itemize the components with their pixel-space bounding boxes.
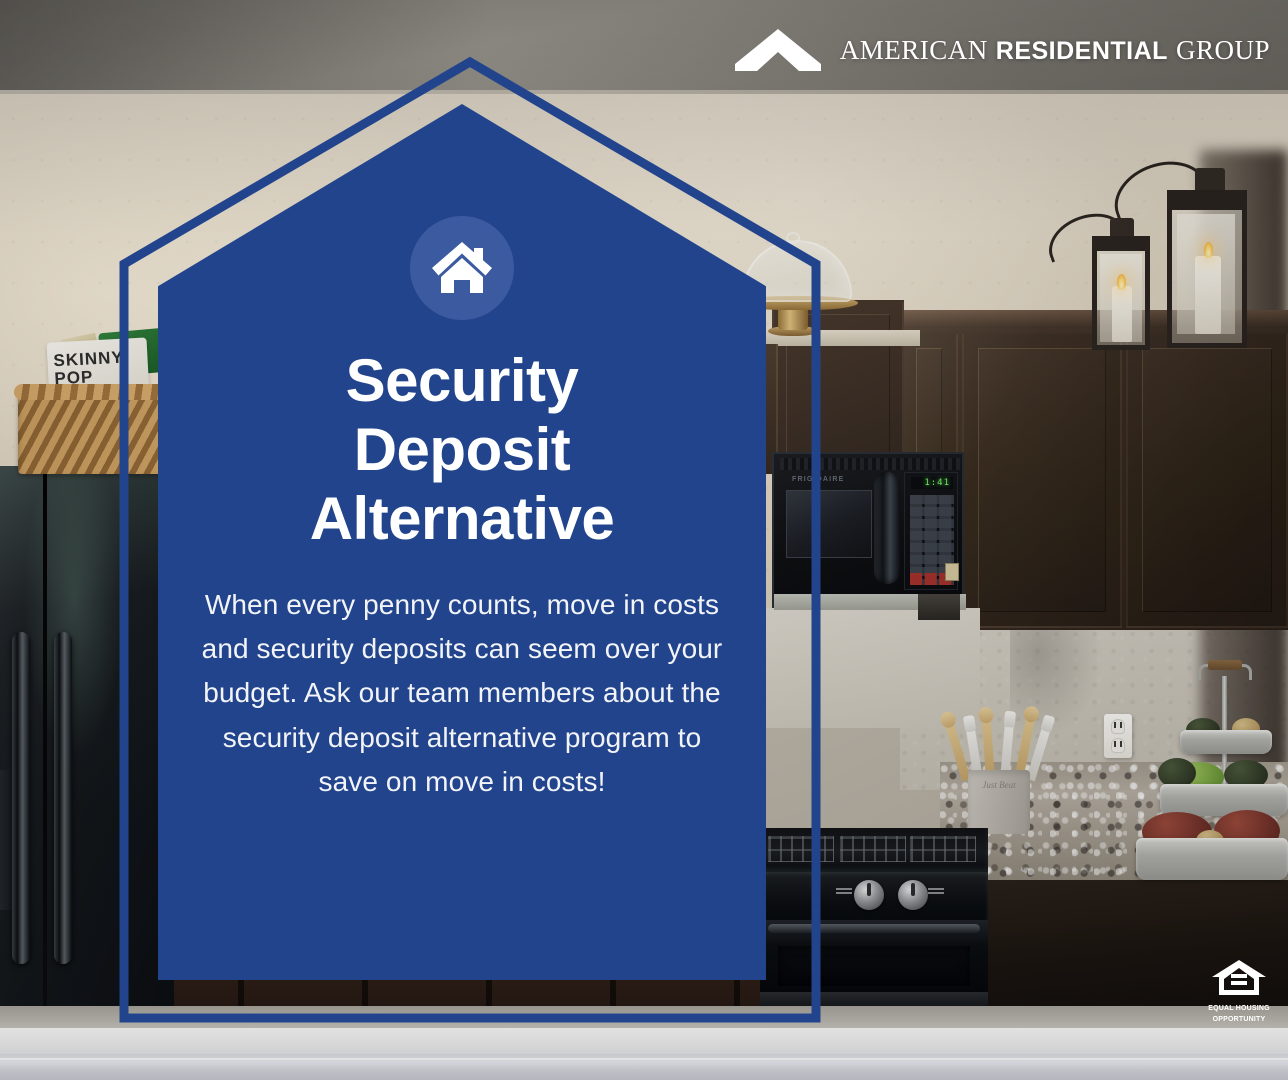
body-copy: When every penny counts, move in costs a… — [192, 583, 732, 804]
page-title: Security Deposit Alternative — [310, 346, 615, 553]
outlet-socket — [1111, 738, 1125, 753]
tray-tier-top — [1180, 730, 1272, 754]
candle-flame — [1204, 242, 1213, 258]
lantern-cap — [1167, 190, 1247, 210]
refrigerator-handle[interactable] — [54, 632, 72, 964]
headline-line-3: Alternative — [310, 485, 615, 552]
brand-name-part1: AMERICAN — [840, 35, 988, 65]
home-icon — [430, 239, 494, 297]
range-knob[interactable] — [898, 880, 928, 910]
microwave-sticker — [945, 563, 959, 581]
window-sill-highlight — [0, 1058, 1288, 1060]
tray-tier-bottom — [1136, 838, 1288, 880]
lantern-large — [1167, 168, 1247, 348]
microwave-clock-display: 1:41 — [911, 477, 953, 489]
equal-housing-line-1: EQUAL HOUSING — [1208, 1005, 1270, 1014]
lantern-knob — [1195, 168, 1225, 192]
brand-name: AMERICAN RESIDENTIAL GROUP — [840, 35, 1270, 66]
navy-house-panel: Security Deposit Alternative When every … — [158, 104, 766, 980]
wall-outlet — [1104, 714, 1132, 758]
equal-housing-line-2: OPPORTUNITY — [1208, 1016, 1270, 1025]
microwave-control-panel[interactable]: 1:41 — [904, 472, 958, 590]
candle-flame — [1117, 274, 1126, 290]
headline-line-2: Deposit — [354, 416, 571, 483]
equal-housing-opportunity-logo: EQUAL HOUSING OPPORTUNITY — [1208, 958, 1270, 1024]
knob-indicator — [928, 888, 944, 896]
microwave-bracket — [918, 594, 960, 620]
burner-grate — [910, 836, 976, 862]
equal-housing-house-icon — [1211, 958, 1267, 998]
outlet-socket — [1111, 719, 1125, 734]
knob-indicator — [836, 888, 852, 896]
pillar-candle — [1195, 256, 1221, 334]
microwave-handle[interactable] — [874, 472, 900, 584]
crock-text-line1: Just Beat — [968, 780, 1030, 791]
headline-line-1: Security — [346, 347, 579, 414]
tray-wood-grip — [1208, 660, 1242, 670]
utensil-crock: Just Beat — [968, 770, 1030, 834]
brand-name-part2: RESIDENTIAL — [996, 37, 1168, 65]
lantern-knob — [1110, 218, 1134, 238]
refrigerator-handle[interactable] — [12, 632, 30, 964]
chevron-roof-icon — [734, 28, 822, 72]
lantern-cap — [1092, 236, 1150, 251]
brand-name-part3: GROUP — [1176, 35, 1270, 65]
brand-logo: AMERICAN RESIDENTIAL GROUP — [734, 28, 1270, 72]
refrigerator-door-gap — [43, 466, 47, 1012]
marketing-graphic: FRIGIDAIRE 1:41 Just Beat — [0, 0, 1288, 1080]
burner-grate — [840, 836, 906, 862]
pillar-candle — [1112, 286, 1132, 342]
range-knob[interactable] — [854, 880, 884, 910]
home-badge — [410, 216, 514, 320]
lantern-small — [1092, 218, 1150, 350]
